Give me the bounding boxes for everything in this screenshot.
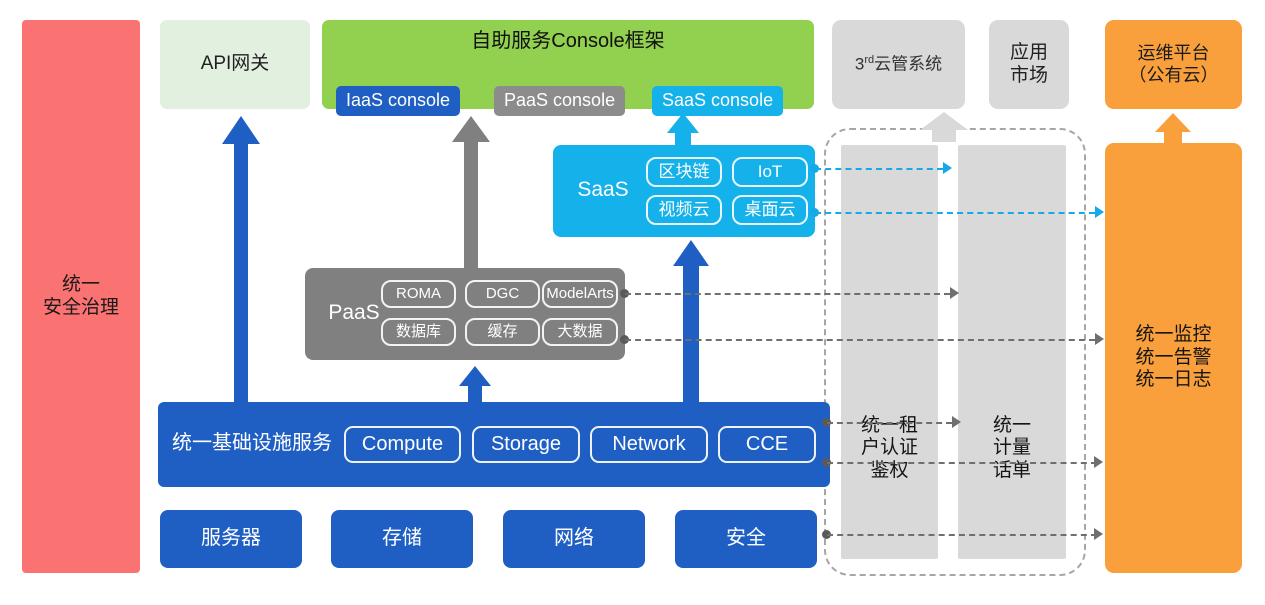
saas-service-label: 视频云 — [659, 200, 710, 220]
infra-service-label: Network — [612, 433, 685, 457]
saas-service-iot[interactable]: IoT — [732, 157, 808, 187]
saas-service-label: IoT — [758, 162, 783, 182]
architecture-diagram: 统一 安全治理 API网关 自助服务Console框架 IaaS console… — [0, 0, 1265, 605]
saas-service-label: 桌面云 — [745, 200, 796, 220]
connector-saas-to-auth — [815, 168, 943, 170]
app-market-line1: 应用 — [1010, 42, 1048, 64]
arrow-group-to-third-party — [920, 112, 968, 142]
saas-service-label: 区块链 — [659, 162, 710, 182]
saas-console-chip[interactable]: SaaS console — [652, 86, 783, 116]
ops-log-label: 统一日志 — [1135, 369, 1211, 391]
hardware-label: 网络 — [554, 527, 594, 551]
billing-line1: 统一 — [958, 415, 1066, 437]
billing-line2: 计量 — [958, 437, 1066, 459]
hardware-box-storage: 存储 — [331, 510, 473, 568]
ops-monitor-label: 统一监控 — [1135, 324, 1211, 346]
connector-arrowhead-saas-to-ops — [1095, 206, 1104, 218]
saas-service-desktop-cloud[interactable]: 桌面云 — [732, 195, 808, 225]
unified-auth-column: 统一租 户认证 鉴权 — [841, 145, 938, 559]
third-party-cloud-mgmt-box: 3rd云管系统 — [832, 20, 965, 109]
infra-service-label: Storage — [491, 433, 561, 457]
connector-arrowhead-hardware-to-ops — [1094, 528, 1103, 540]
iaas-console-chip[interactable]: IaaS console — [336, 86, 460, 116]
console-frame-title: 自助服务Console框架 — [322, 30, 814, 54]
unified-billing-column: 统一 计量 话单 — [958, 145, 1066, 559]
paas-service-bigdata[interactable]: 大数据 — [542, 318, 618, 346]
arrow-infra-to-paas — [459, 366, 491, 404]
paas-layer-block: PaaS ROMA DGC ModelArts 数据库 缓存 大数据 — [305, 268, 625, 360]
arrow-to-ops-platform — [1155, 113, 1191, 145]
connector-arrowhead-infra-to-ops — [1094, 456, 1103, 468]
ops-platform-body-panel: 统一监控 统一告警 统一日志 — [1105, 143, 1242, 573]
connector-infra-to-ops — [827, 462, 1097, 464]
paas-service-label: 大数据 — [557, 323, 602, 341]
arrow-paas-to-console — [452, 116, 490, 271]
connector-arrowhead-paas-to-ops — [1095, 333, 1104, 345]
paas-service-label: DGC — [486, 285, 519, 303]
connector-arrowhead-saas-to-auth — [943, 162, 952, 174]
infra-service-storage[interactable]: Storage — [472, 426, 580, 463]
infra-service-network[interactable]: Network — [590, 426, 708, 463]
security-governance-line1: 统一 — [43, 274, 119, 296]
saas-console-label: SaaS console — [662, 90, 773, 111]
ops-platform-title: 运维平台 — [1129, 43, 1219, 64]
api-gateway-box: API网关 — [160, 20, 310, 109]
third-party-superscript: rd — [864, 54, 874, 66]
paas-service-database[interactable]: 数据库 — [381, 318, 456, 346]
paas-service-label: ROMA — [396, 285, 441, 303]
auth-line2: 户认证 — [841, 437, 938, 459]
connector-saas-to-ops — [815, 212, 1095, 214]
paas-service-cache[interactable]: 缓存 — [465, 318, 540, 346]
saas-service-video-cloud[interactable]: 视频云 — [646, 195, 722, 225]
infra-service-compute[interactable]: Compute — [344, 426, 461, 463]
paas-service-label: ModelArts — [546, 285, 614, 303]
hardware-box-security: 安全 — [675, 510, 817, 568]
iaas-console-label: IaaS console — [346, 90, 450, 111]
app-market-line2: 市场 — [1010, 65, 1048, 87]
third-party-prefix: 3 — [855, 55, 864, 74]
connector-hardware-to-ops — [827, 534, 1097, 536]
infrastructure-layer-block: 统一基础设施服务 Compute Storage Network CCE — [158, 402, 830, 487]
hardware-box-server: 服务器 — [160, 510, 302, 568]
ops-platform-subtitle: （公有云） — [1129, 65, 1219, 86]
connector-arrowhead-paas-to-billing — [950, 287, 959, 299]
paas-service-modelarts[interactable]: ModelArts — [542, 280, 618, 308]
ops-platform-header-box: 运维平台 （公有云） — [1105, 20, 1242, 109]
paas-console-chip[interactable]: PaaS console — [494, 86, 625, 116]
infra-service-label: Compute — [362, 433, 443, 457]
paas-service-label: 数据库 — [396, 323, 441, 341]
infra-service-label: CCE — [746, 433, 788, 457]
saas-service-blockchain[interactable]: 区块链 — [646, 157, 722, 187]
hardware-label: 服务器 — [201, 527, 261, 551]
hardware-label: 存储 — [382, 527, 422, 551]
saas-layer-block: SaaS 区块链 IoT 视频云 桌面云 — [553, 145, 815, 237]
paas-console-label: PaaS console — [504, 90, 615, 111]
connector-paas-to-billing — [625, 293, 950, 295]
saas-layer-label: SaaS — [563, 178, 643, 203]
self-service-console-frame: 自助服务Console框架 IaaS console PaaS console … — [322, 20, 814, 109]
hardware-label: 安全 — [726, 527, 766, 551]
infrastructure-layer-label: 统一基础设施服务 — [172, 432, 332, 456]
arrow-infra-to-saas — [673, 240, 709, 405]
auth-line1: 统一租 — [841, 415, 938, 437]
infra-service-cce[interactable]: CCE — [718, 426, 816, 463]
connector-paas-to-ops — [625, 339, 1095, 341]
api-gateway-label: API网关 — [201, 53, 270, 75]
arrow-saas-to-console — [667, 113, 699, 149]
security-governance-line2: 安全治理 — [43, 297, 119, 319]
hardware-box-network: 网络 — [503, 510, 645, 568]
paas-service-roma[interactable]: ROMA — [381, 280, 456, 308]
paas-service-dgc[interactable]: DGC — [465, 280, 540, 308]
connector-infra-to-billing — [827, 422, 952, 424]
arrow-infra-to-api-gateway — [222, 116, 260, 406]
third-party-suffix: 云管系统 — [874, 55, 942, 74]
ops-alarm-label: 统一告警 — [1135, 347, 1211, 369]
app-market-box: 应用 市场 — [989, 20, 1069, 109]
security-governance-panel: 统一 安全治理 — [22, 20, 140, 573]
connector-arrowhead-infra-to-billing — [952, 416, 961, 428]
paas-service-label: 缓存 — [487, 323, 517, 341]
